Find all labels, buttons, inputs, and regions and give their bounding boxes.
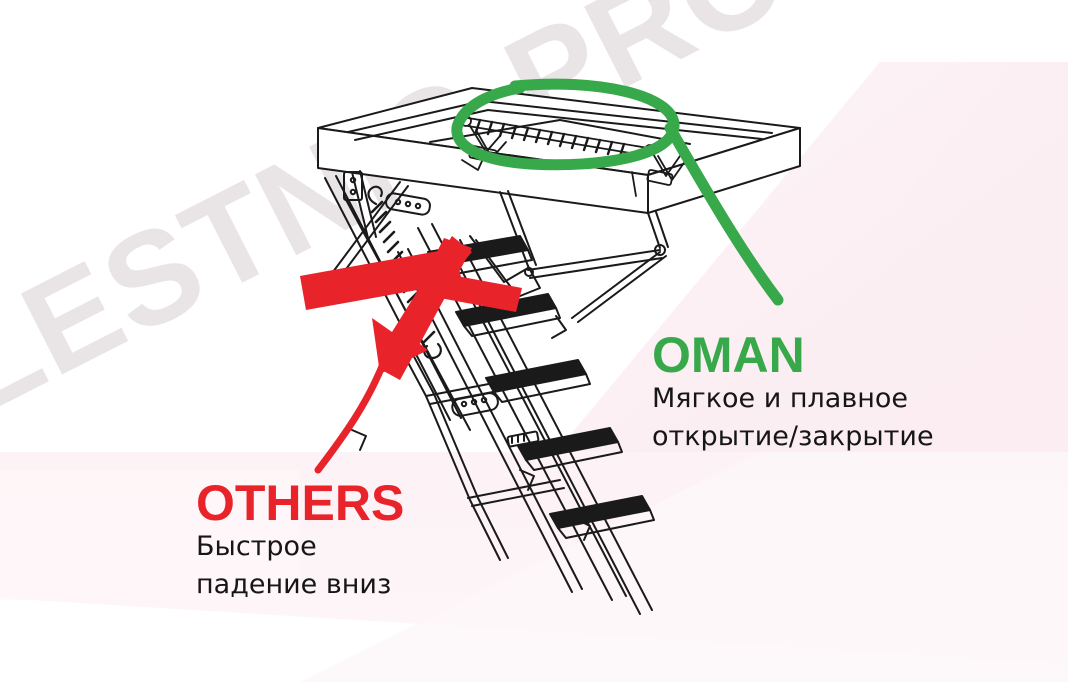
oman-title: OMAN xyxy=(652,330,934,380)
callout-others: OTHERS Быстрое падение вниз xyxy=(196,478,404,605)
diagonal-brace xyxy=(528,250,662,338)
others-title: OTHERS xyxy=(196,478,404,528)
spring-mechanism-top xyxy=(461,116,686,196)
oman-subtitle-line2: открытие/закрытие xyxy=(652,418,934,456)
scissor-linkage xyxy=(312,176,528,430)
support-arms xyxy=(344,171,668,322)
others-subtitle-line1: Быстрое xyxy=(196,528,404,566)
bg-shape-mid-band xyxy=(0,452,1068,664)
ladder-steps xyxy=(428,236,654,538)
ladder-stringers xyxy=(398,224,652,614)
callout-oman: OMAN Мягкое и плавное открытие/закрытие xyxy=(652,330,934,457)
spring-mechanism-left xyxy=(369,187,441,358)
spring-top-bracket xyxy=(385,192,431,215)
oman-subtitle-line1: Мягкое и плавное xyxy=(652,380,934,418)
others-subtitle-line2: падение вниз xyxy=(196,566,404,604)
ladder-lower-frame xyxy=(396,338,564,560)
illustration-canvas: LESTNIC-PROSTO.RU xyxy=(0,0,1068,682)
bg-shape-lower-right xyxy=(300,452,1068,682)
ceiling-hatch-box xyxy=(318,88,800,213)
